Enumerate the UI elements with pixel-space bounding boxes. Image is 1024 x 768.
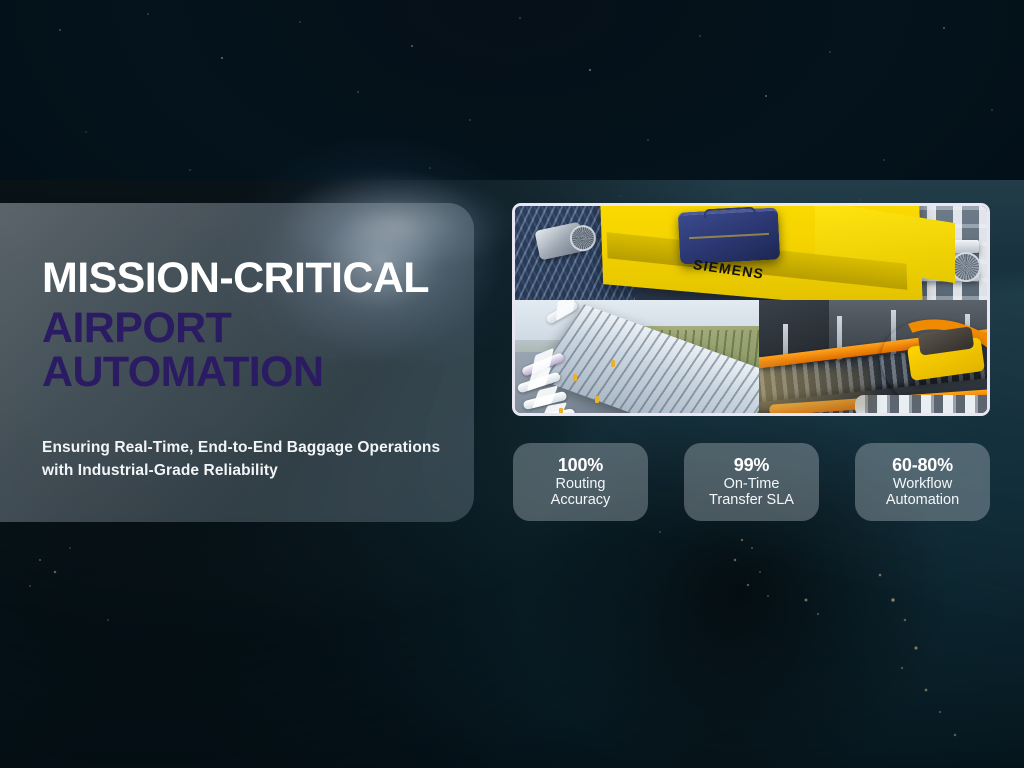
blue-suitcase bbox=[678, 207, 781, 264]
service-vehicle bbox=[573, 374, 577, 381]
roller-bank bbox=[855, 395, 987, 413]
service-vehicle bbox=[611, 360, 615, 367]
collage-image-siemens-baggage-tray: SIEMENS bbox=[515, 206, 987, 300]
headline-line-2: AIRPORT bbox=[42, 307, 474, 349]
image-collage: SIEMENS bbox=[512, 203, 990, 416]
headline-line-1: MISSION-CRITICAL bbox=[42, 257, 474, 299]
collage-image-airport-terminal-aerial bbox=[515, 300, 759, 413]
stat-label: Accuracy bbox=[551, 492, 611, 509]
service-vehicle bbox=[595, 396, 599, 403]
collage-image-orange-baggage-sorter bbox=[759, 300, 987, 413]
stat-label: Routing bbox=[556, 476, 606, 493]
headline-panel: MISSION-CRITICAL AIRPORT AUTOMATION Ensu… bbox=[0, 203, 474, 522]
stats-row: 100% Routing Accuracy 99% On-Time Transf… bbox=[513, 443, 990, 521]
foreground-blur bbox=[759, 367, 873, 413]
stat-value: 99% bbox=[734, 455, 769, 476]
stat-label: Automation bbox=[886, 492, 959, 509]
subheadline: Ensuring Real-Time, End-to-End Baggage O… bbox=[42, 437, 447, 482]
stat-card-routing-accuracy[interactable]: 100% Routing Accuracy bbox=[513, 443, 648, 521]
stat-label: Workflow bbox=[893, 476, 952, 493]
slide-canvas: MISSION-CRITICAL AIRPORT AUTOMATION Ensu… bbox=[0, 0, 1024, 768]
stat-card-workflow-automation[interactable]: 60-80% Workflow Automation bbox=[855, 443, 990, 521]
stat-label: Transfer SLA bbox=[709, 492, 794, 509]
stat-value: 100% bbox=[558, 455, 603, 476]
stat-value: 60-80% bbox=[892, 455, 953, 476]
stat-card-on-time-transfer-sla[interactable]: 99% On-Time Transfer SLA bbox=[684, 443, 819, 521]
service-vehicle bbox=[559, 408, 563, 413]
page-title: MISSION-CRITICAL AIRPORT AUTOMATION bbox=[42, 257, 474, 393]
headline-line-3: AUTOMATION bbox=[42, 351, 474, 393]
rack-drive-motor bbox=[951, 252, 981, 282]
stat-label: On-Time bbox=[724, 476, 780, 493]
